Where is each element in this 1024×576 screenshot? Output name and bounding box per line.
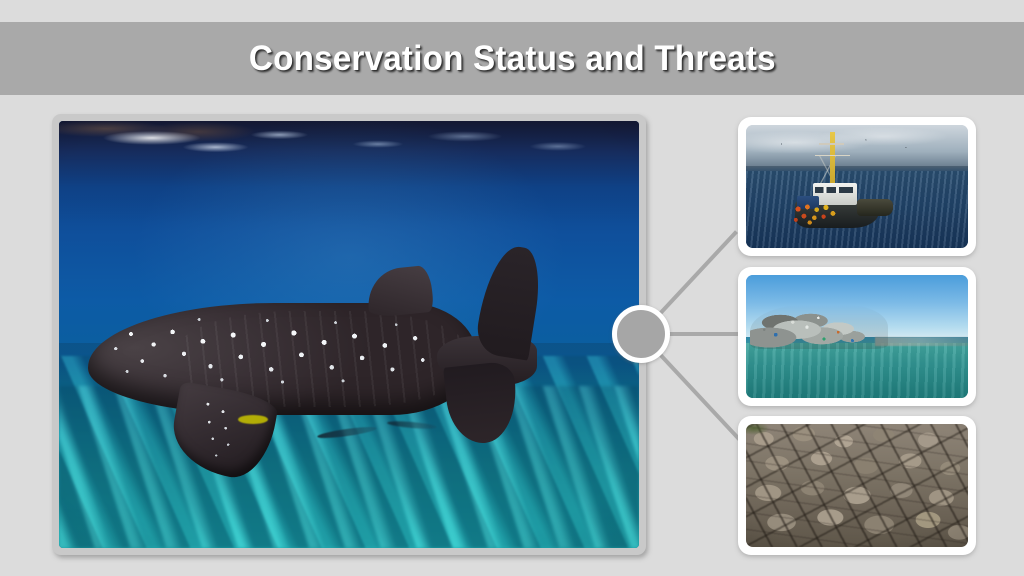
slide-canvas: Conservation Status and Threats [0, 0, 1024, 576]
fishing-vessel-photo[interactable] [746, 125, 968, 248]
boat-mast [830, 132, 835, 186]
cracked-dry-earth-photo[interactable] [746, 424, 968, 547]
plastic-debris-bits [753, 307, 895, 349]
boat-buoys [790, 201, 848, 228]
boat-cabin-windows [815, 187, 853, 193]
boat-rigging-lines [799, 155, 857, 187]
boat-crossarm [815, 155, 851, 157]
photo-vignette [59, 121, 639, 548]
page-title: Conservation Status and Threats [249, 39, 776, 79]
boat-upper-crossarm [819, 143, 843, 145]
pollution-water [746, 343, 968, 398]
title-banner: Conservation Status and Threats [0, 22, 1024, 95]
hero-image-frame[interactable] [52, 114, 646, 555]
boat-fishing-nets [857, 199, 893, 216]
whale-shark-underwater-photo[interactable] [59, 121, 639, 548]
seabirds [746, 132, 968, 162]
thumbnail-card-1[interactable] [738, 117, 976, 256]
marine-plastic-pollution-photo[interactable] [746, 275, 968, 398]
thumbnail-card-2[interactable] [738, 267, 976, 406]
threats-hub-node[interactable] [612, 305, 670, 363]
earth-vignette [746, 424, 968, 547]
thumbnail-card-3[interactable] [738, 416, 976, 555]
